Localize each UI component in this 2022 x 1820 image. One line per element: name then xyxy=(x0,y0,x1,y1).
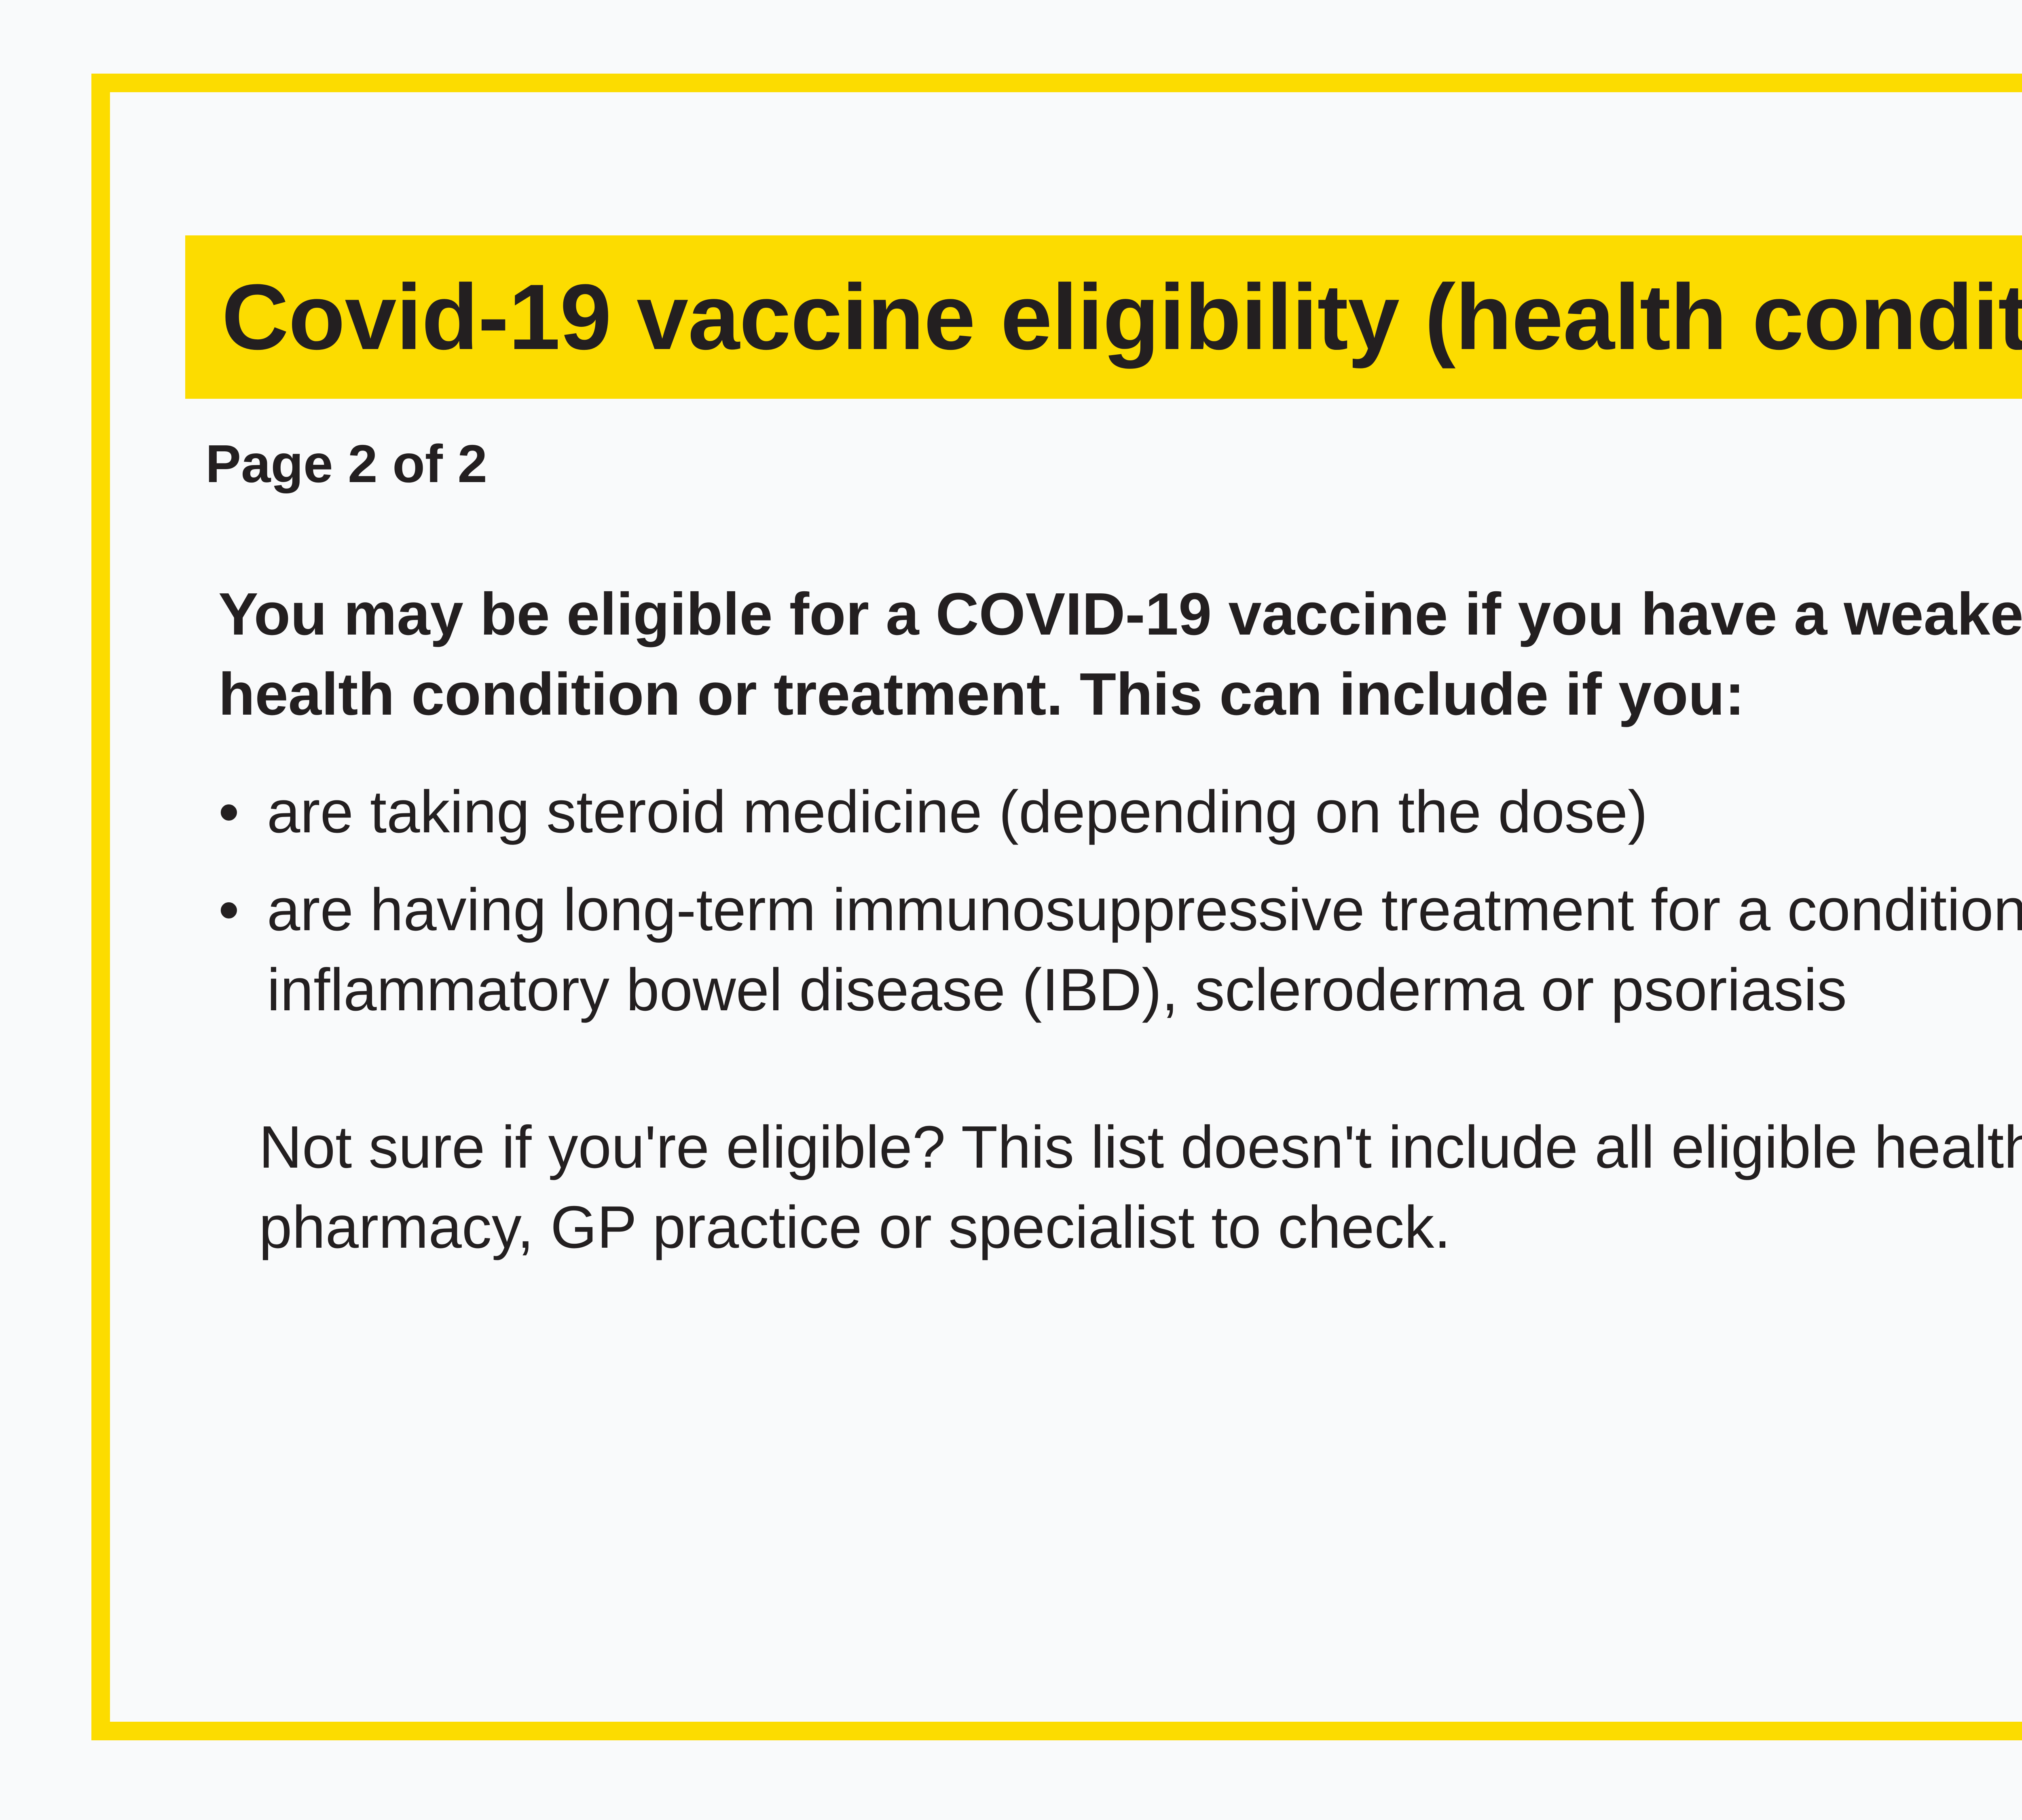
eligibility-bullet-list: • are taking steroid medicine (depending… xyxy=(218,772,2022,1031)
closing-paragraph: Not sure if you're eligible? This list d… xyxy=(259,1107,2022,1268)
list-item: • are taking steroid medicine (depending… xyxy=(218,772,2022,852)
page-title: Covid-19 vaccine eligibility (health con… xyxy=(185,271,2022,364)
page-indicator: Page 2 of 2 xyxy=(205,432,487,496)
list-item-text: are having long-term immunosuppressive t… xyxy=(267,876,2022,1023)
bullet-marker-icon: • xyxy=(218,870,239,950)
body-content: You may be eligible for a COVID-19 vacci… xyxy=(218,574,2022,1268)
intro-paragraph: You may be eligible for a COVID-19 vacci… xyxy=(218,574,2022,735)
title-highlight-band: Covid-19 vaccine eligibility (health con… xyxy=(185,235,2022,399)
list-item-text: are taking steroid medicine (depending o… xyxy=(267,779,1648,845)
bullet-marker-icon: • xyxy=(218,772,239,852)
list-item: • are having long-term immunosuppressive… xyxy=(218,870,2022,1031)
poster-canvas: NHS Covid-19 vaccine eligibility (health… xyxy=(0,0,2022,1820)
